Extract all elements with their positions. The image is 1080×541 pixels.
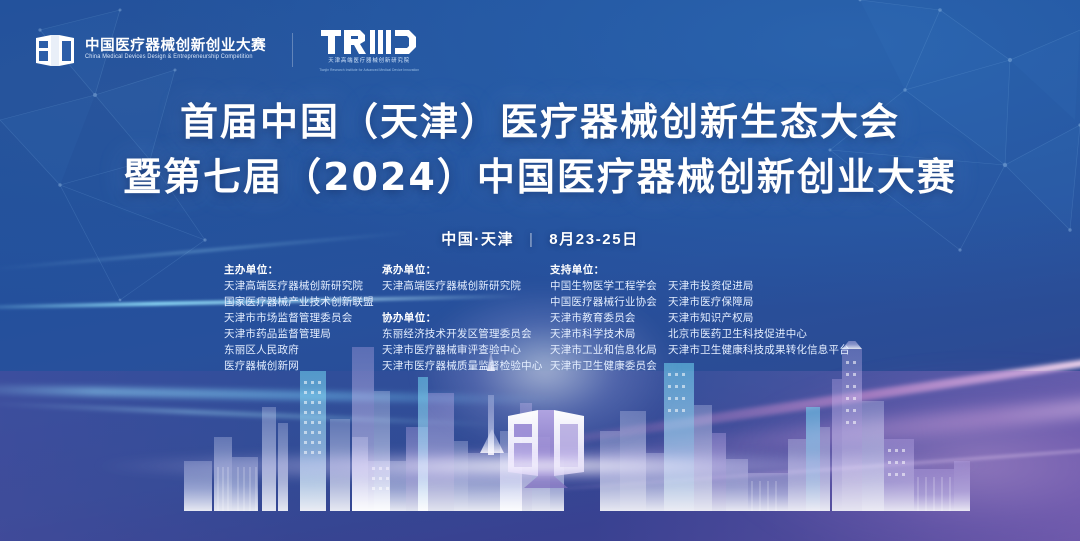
competition-name-en: China Medical Devices Design & Entrepren…: [85, 55, 266, 61]
organizer-item: 天津市市场监督管理委员会: [224, 310, 382, 326]
institute-name-cn: 天津高端医疗器械创新研究院: [328, 59, 410, 65]
organizer-column-supporters-right: 天津市投资促进局 天津市医疗保障局 天津市知识产权局 北京市医药卫生科技促进中心…: [668, 262, 850, 358]
competition-name-cn: 中国医疗器械创新创业大赛: [85, 39, 266, 54]
section-heading: 支持单位：: [550, 262, 668, 278]
logo-divider: [292, 33, 293, 67]
organizer-item: 东丽区人民政府: [224, 342, 382, 358]
triid-wordmark-icon: [321, 28, 417, 56]
organizer-item: 东丽经济技术开发区管理委员会: [382, 326, 550, 342]
organizer-column-organizer: 承办单位： 天津高端医疗器械创新研究院 协办单位： 东丽经济技术开发区管理委员会…: [382, 262, 550, 374]
section-spacer: [382, 294, 550, 310]
header-logos: 中国医疗器械创新创业大赛 China Medical Devices Desig…: [34, 28, 419, 72]
organizer-column-host: 主办单位： 天津高端医疗器械创新研究院 国家医疗器械产业技术创新联盟 天津市市场…: [224, 262, 382, 374]
organizer-item: 天津市工业和信息化局: [550, 342, 668, 358]
organizer-item: 国家医疗器械产业技术创新联盟: [224, 294, 382, 310]
organizer-item: 医疗器械创新网: [224, 358, 382, 374]
bottom-violet-wash: [0, 371, 1080, 541]
organizer-item: 天津市药品监督管理局: [224, 326, 382, 342]
section-heading: 协办单位：: [382, 310, 550, 326]
event-info-separator: |: [529, 231, 535, 248]
event-dates: 8月23-25日: [549, 231, 639, 248]
event-info-bar: 中国·天津 | 8月23-25日: [0, 228, 1080, 249]
organizer-item: 天津市医疗器械质量监督检验中心: [382, 358, 550, 374]
organizer-item: 天津高端医疗器械创新研究院: [224, 278, 382, 294]
organizer-item: 天津市教育委员会: [550, 310, 668, 326]
organizer-item: 天津市卫生健康委员会: [550, 358, 668, 374]
organizer-item: 天津市投资促进局: [668, 278, 850, 294]
organizer-item: 北京市医药卫生科技促进中心: [668, 326, 850, 342]
competition-logo: 中国医疗器械创新创业大赛 China Medical Devices Desig…: [34, 30, 266, 70]
center-emblem-open-book-door-logo-icon: [498, 402, 594, 488]
open-book-door-logo-icon: [34, 30, 76, 70]
event-location: 中国·天津: [441, 231, 514, 248]
institute-name-en: Tianjin Research Institute for Advanced …: [319, 68, 419, 72]
institute-logo: 天津高端医疗器械创新研究院 Tianjin Research Institute…: [319, 28, 419, 72]
organizer-item: 天津高端医疗器械创新研究院: [382, 278, 550, 294]
section-heading: 承办单位：: [382, 262, 550, 278]
main-title-line-2: 暨第七届（2024）中国医疗器械创新创业大赛: [0, 155, 1080, 200]
section-heading: 主办单位：: [224, 262, 382, 278]
organizer-item: 中国生物医学工程学会: [550, 278, 668, 294]
organizer-item: 天津市卫生健康科技成果转化信息平台: [668, 342, 850, 358]
organizer-item: 天津市知识产权局: [668, 310, 850, 326]
horizon-glow: [90, 449, 990, 483]
organizer-column-supporters-left: 支持单位： 中国生物医学工程学会 中国医疗器械行业协会 天津市教育委员会 天津市…: [550, 262, 668, 374]
organizer-credits: 主办单位： 天津高端医疗器械创新研究院 国家医疗器械产业技术创新联盟 天津市市场…: [224, 262, 850, 374]
organizer-item: 天津市科学技术局: [550, 326, 668, 342]
organizer-item: 天津市医疗器械审评查验中心: [382, 342, 550, 358]
organizer-item: 天津市医疗保障局: [668, 294, 850, 310]
organizer-item: 中国医疗器械行业协会: [550, 294, 668, 310]
poster-titles: 首届中国（天津）医疗器械创新生态大会 暨第七届（2024）中国医疗器械创新创业大…: [0, 100, 1080, 200]
main-title-line-1: 首届中国（天津）医疗器械创新生态大会: [0, 100, 1080, 145]
conference-poster: 中国医疗器械创新创业大赛 China Medical Devices Desig…: [0, 0, 1080, 541]
